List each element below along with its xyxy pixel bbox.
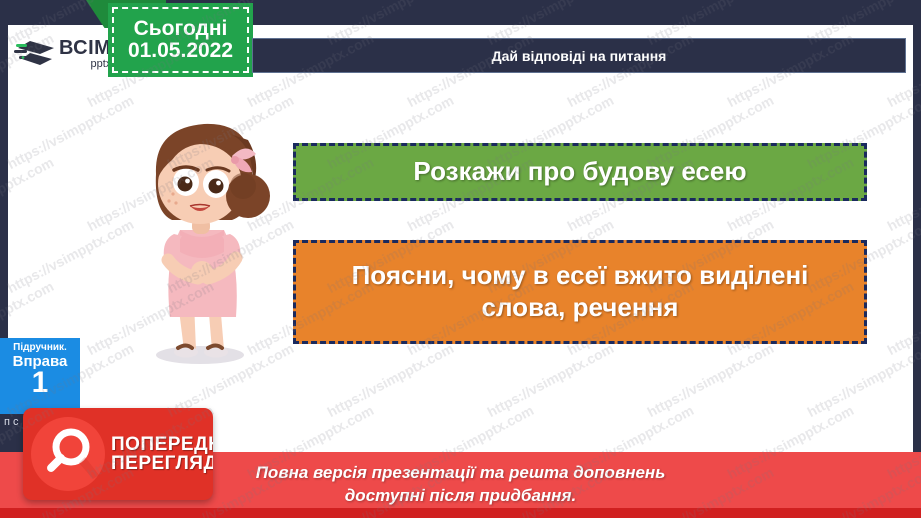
purchase-notice-line2: доступні після придбання.	[256, 485, 666, 508]
presentation-slide: ВСІМ pptx Сьогодні 01.05.2022 Дай відпов…	[0, 0, 921, 518]
question-box-2: Поясни, чому в есеї вжито виділені слова…	[293, 240, 867, 344]
logo-wordmark: ВСІМ	[59, 39, 111, 58]
question-text-2: Поясни, чому в есеї вжито виділені слова…	[296, 260, 864, 323]
exercise-book-label: Підручник.	[0, 342, 80, 353]
preview-badge-line2: ПЕРЕГЛЯД	[111, 454, 213, 473]
preview-watermark-badge: ПОПЕРЕДНІЙ ПЕРЕГЛЯД	[23, 408, 213, 500]
magnifier-icon	[31, 417, 105, 491]
exercise-card: Підручник. Вправа 1	[0, 338, 80, 414]
purchase-notice-line1: Повна версія презентації та решта доповн…	[256, 462, 666, 485]
date-badge-value: 01.05.2022	[128, 40, 233, 62]
date-badge: Сьогодні 01.05.2022	[108, 3, 253, 77]
question-box-1: Розкажи про будову есею	[293, 143, 867, 201]
purchase-notice-text: Повна версія презентації та решта доповн…	[256, 462, 666, 508]
slide-title-bar: Дай відповіді на питання	[252, 38, 906, 73]
brand-logo: ВСІМ pptx	[8, 28, 114, 80]
graduation-cap-icon	[14, 37, 56, 71]
logo-subtext: pptx	[59, 59, 111, 69]
preview-badge-line1: ПОПЕРЕДНІЙ	[111, 435, 213, 454]
exercise-number: 1	[0, 368, 80, 398]
date-badge-label: Сьогодні	[134, 18, 228, 40]
page-title: Дай відповіді на питання	[492, 48, 667, 64]
girl-thinking-illustration	[112, 112, 292, 372]
question-text-1: Розкажи про будову есею	[413, 156, 746, 188]
